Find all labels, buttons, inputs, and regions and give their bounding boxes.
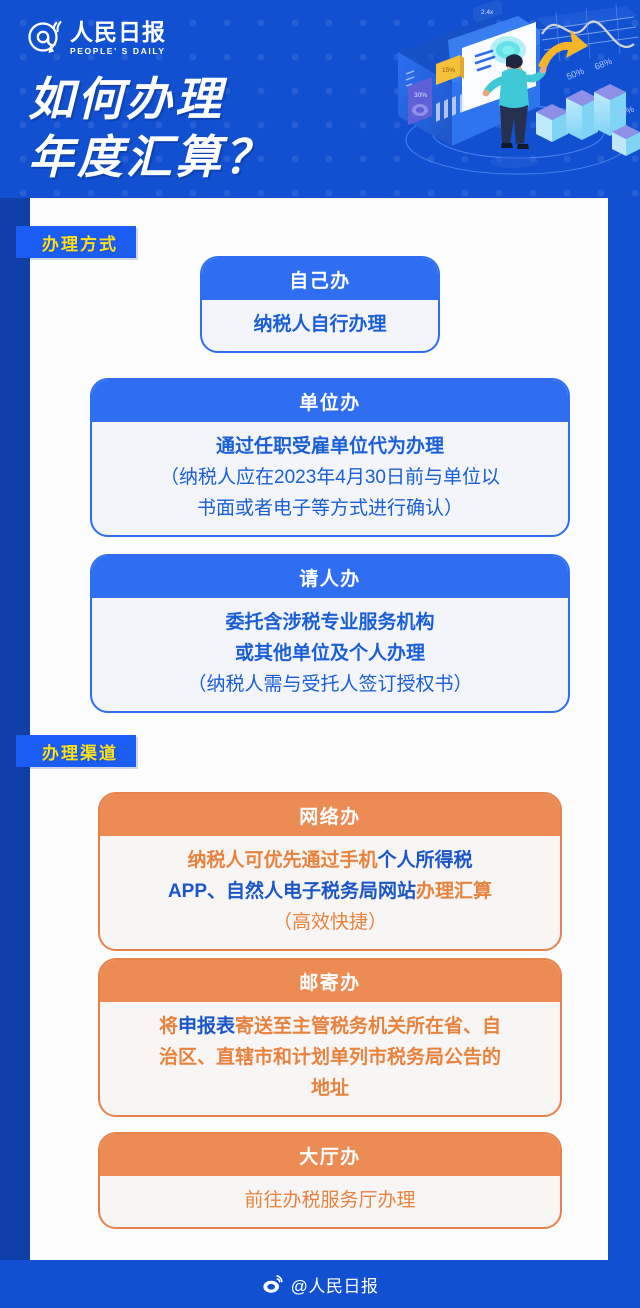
section-label: 办理渠道 [42,739,118,764]
footer: @人民日报 [0,1260,640,1308]
left-accent-strip [0,198,30,1260]
card-text-segment: 办理汇算 [416,881,492,902]
card-note-line: 书面或者电子等方式进行确认） [106,493,554,524]
card-title: 请人办 [92,556,568,598]
card-line: 纳税人可优先通过手机个人所得税 [114,845,546,876]
card-text-segment: 治区、直辖市和计划单列市税务局公告的 [159,1047,501,1068]
card-text-segment: 将 [159,1016,178,1037]
card-body: 纳税人可优先通过手机个人所得税 APP、自然人电子税务局网站办理汇算 （高效快捷… [100,836,560,949]
card-text-segment: 地址 [311,1078,349,1099]
card-line: 或其他单位及个人办理 [106,638,554,669]
logo-chinese-name: 人民日报 [70,19,166,45]
bar-label-68: 68% [593,56,613,72]
card-body: 委托含涉税专业服务机构 或其他单位及个人办理 （纳税人需与受托人签订授权书） [92,598,568,711]
section-label: 办理方式 [42,230,118,255]
header: 人民日报 PEOPLE' S DAILY 如何办理 年度汇算？ [0,0,640,200]
isometric-bar-chart: 50% 68% 25% [536,56,640,156]
bar-1 [536,104,568,142]
card-line: 委托含涉税专业服务机构 [106,607,554,638]
card-text-segment-highlight: APP、自然人电子税务局网站 [168,881,416,902]
card-body: 前往办税服务厅办理 [100,1176,560,1227]
card-note-line: （纳税人需与受托人签订授权书） [106,669,554,700]
card-text-segment-highlight: 申报表 [178,1016,235,1037]
card-note-line: 前往办税服务厅办理 [114,1185,546,1216]
card-body: 通过任职受雇单位代为办理 （纳税人应在2023年4月30日前与单位以 书面或者电… [92,422,568,535]
page-title: 如何办理 年度汇算？ [28,70,358,186]
card-text-segment-highlight: 个人所得税 [378,850,473,871]
card-mail-channel[interactable]: 邮寄办 将申报表寄送至主管税务机关所在省、自 治区、直辖市和计划单列市税务局公告… [98,958,562,1117]
isometric-data-dashboard-illustration: 2.4x 15% 30% [390,0,640,190]
metric-card-2-4x: 2.4x [473,0,502,22]
card-title: 网络办 [100,794,560,836]
bar-label-50: 50% [565,66,585,82]
card-line: APP、自然人电子税务局网站办理汇算 [114,876,546,907]
card-line: 将申报表寄送至主管税务机关所在省、自 [114,1011,546,1042]
card-employer-handling[interactable]: 单位办 通过任职受雇单位代为办理 （纳税人应在2023年4月30日前与单位以 书… [90,378,570,537]
title-line-2: 年度汇算？ [28,128,358,186]
card-body: 将申报表寄送至主管税务机关所在省、自 治区、直辖市和计划单列市税务局公告的 地址 [100,1002,560,1115]
card-body: 纳税人自行办理 [202,300,438,351]
section-banner-handling-channels: 办理渠道 [16,735,136,767]
svg-text:2.4x: 2.4x [481,9,494,16]
card-line: 通过任职受雇单位代为办理 [106,431,554,462]
logo-english-name: PEOPLE' S DAILY [70,46,166,56]
card-line: 地址 [114,1073,546,1104]
card-hall-channel[interactable]: 大厅办 前往办税服务厅办理 [98,1132,562,1229]
section-banner-handling-methods: 办理方式 [16,226,136,258]
infographic-page: 人民日报 PEOPLE' S DAILY 如何办理 年度汇算？ [0,0,640,1308]
card-line: 纳税人自行办理 [216,309,424,340]
weibo-eye-icon [262,1273,284,1295]
card-agent-handling[interactable]: 请人办 委托含涉税专业服务机构 或其他单位及个人办理 （纳税人需与受托人签订授权… [90,554,570,713]
card-title: 大厅办 [100,1134,560,1176]
card-title: 自己办 [202,258,438,300]
card-title: 单位办 [92,380,568,422]
card-title: 邮寄办 [100,960,560,1002]
svg-text:30%: 30% [414,92,427,99]
peoples-daily-logo: 人民日报 PEOPLE' S DAILY [26,17,166,63]
card-note-line: （纳税人应在2023年4月30日前与单位以 [106,462,554,493]
card-line: 治区、直辖市和计划单列市税务局公告的 [114,1042,546,1073]
card-self-handling[interactable]: 自己办 纳税人自行办理 [200,256,440,353]
card-note-line: （高效快捷） [114,907,546,938]
card-text-segment: 纳税人可优先通过手机 [187,850,377,871]
at-sign-broadcast-icon [26,19,66,59]
bar-2 [566,90,598,140]
title-line-1: 如何办理 [28,70,358,128]
svg-text:15%: 15% [442,67,455,74]
footer-account-name: @人民日报 [291,1272,379,1297]
card-online-channel[interactable]: 网络办 纳税人可优先通过手机个人所得税 APP、自然人电子税务局网站办理汇算 （… [98,792,562,951]
card-text-segment: 寄送至主管税务机关所在省、自 [235,1016,501,1037]
